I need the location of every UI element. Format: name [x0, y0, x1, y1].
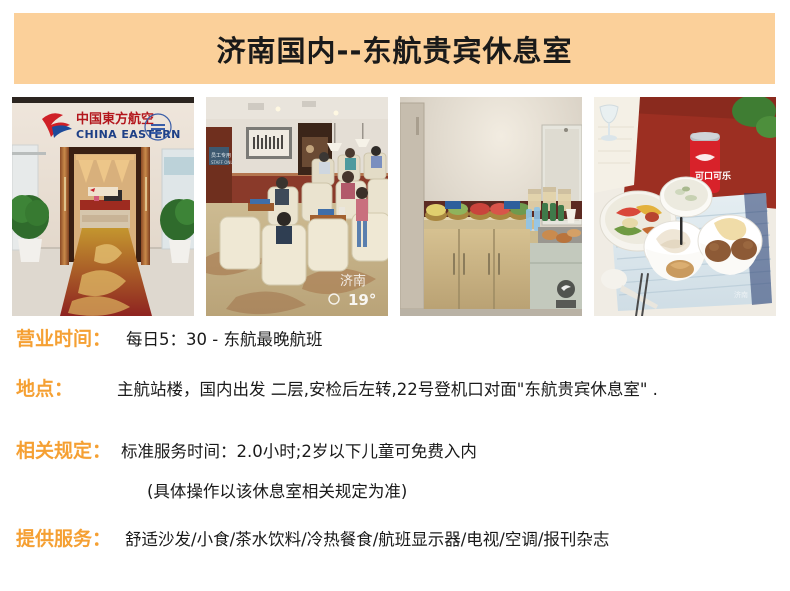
photo-lounge-seating[interactable]: 员工专用 STAFF ONLY [206, 97, 388, 316]
page-title: 济南国内--东航贵宾休息室 [216, 28, 572, 70]
value-rules-subnote: (具体操作以该休息室相关规定为准) [147, 478, 407, 502]
svg-text:济南: 济南 [734, 290, 748, 299]
svg-text:员工专用: 员工专用 [211, 152, 231, 159]
photo-strip: 中国東方航空 CHINA EASTERN [12, 97, 776, 316]
svg-text:CHINA EASTERN: CHINA EASTERN [76, 128, 181, 141]
info-row-rules: 相关规定： 标准服务时间：2.0小时;2岁以下儿童可免费入内 [0, 436, 790, 476]
photo-food-tray[interactable]: 可口可乐 [594, 97, 776, 316]
label-rules: 相关规定： [16, 436, 111, 463]
label-hours: 营业时间： [16, 324, 111, 351]
value-services: 舒适沙发/小食/茶水饮料/冷热餐食/航班显示器/电视/空调/报刊杂志 [125, 526, 609, 550]
info-row-hours: 营业时间： 每日5：30 - 东航最晚航班 [0, 324, 790, 372]
info-row-rules-subnote: (具体操作以该休息室相关规定为准) [0, 478, 790, 522]
info-block: 营业时间： 每日5：30 - 东航最晚航班 地点： 主航站楼，国内出发 二层,安… [0, 324, 790, 566]
label-services: 提供服务： [16, 524, 111, 551]
info-row-services: 提供服务： 舒适沙发/小食/茶水饮料/冷热餐食/航班显示器/电视/空调/报刊杂志 [0, 524, 790, 564]
svg-text:STAFF ONLY: STAFF ONLY [211, 160, 235, 165]
svg-text:19°: 19° [348, 291, 376, 309]
photo-buffet-counter[interactable] [400, 97, 582, 316]
value-rules: 标准服务时间：2.0小时;2岁以下儿童可免费入内 [121, 438, 477, 462]
value-location: 主航站楼，国内出发 二层,安检后左转,22号登机口对面"东航贵宾休息室" . [117, 376, 658, 400]
photo-lounge-entrance[interactable]: 中国東方航空 CHINA EASTERN [12, 97, 194, 316]
title-banner: 济南国内--东航贵宾休息室 [14, 13, 775, 84]
svg-text:中国東方航空: 中国東方航空 [76, 111, 154, 127]
svg-text:济南: 济南 [340, 273, 366, 289]
label-location: 地点： [16, 374, 73, 401]
value-hours: 每日5：30 - 东航最晚航班 [126, 326, 322, 350]
lounge-info-page: 济南国内--东航贵宾休息室 [0, 0, 790, 591]
info-row-location: 地点： 主航站楼，国内出发 二层,安检后左转,22号登机口对面"东航贵宾休息室"… [0, 374, 790, 434]
